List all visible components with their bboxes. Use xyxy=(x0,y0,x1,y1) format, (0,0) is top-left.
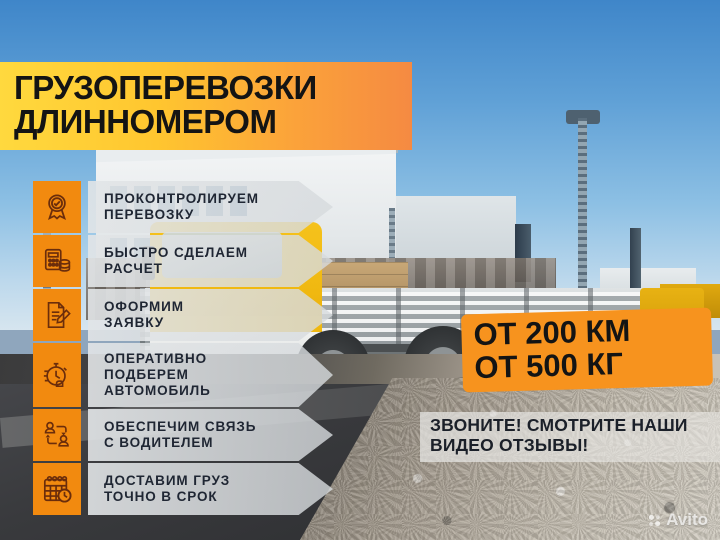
feature-item-fast-quote: БЫСТРО СДЕЛАЕМ РАСЧЕТ xyxy=(33,235,333,287)
price-unit: КГ xyxy=(586,346,623,382)
calendar-clock-icon xyxy=(33,463,81,515)
feature-item-control-shipment: ПРОКОНТРОЛИРУЕМ ПЕРЕВОЗКУ xyxy=(33,181,333,233)
award-rosette-icon xyxy=(33,181,81,233)
feature-text-panel: ДОСТАВИМ ГРУЗ ТОЧНО В СРОК xyxy=(88,463,333,515)
avito-logo-icon xyxy=(647,513,662,528)
price-value: 500 xyxy=(526,348,579,384)
price-prefix: ОТ xyxy=(474,349,518,385)
feature-line: ОПЕРАТИВНО xyxy=(104,351,207,366)
avito-watermark: Avito xyxy=(647,510,708,530)
feature-line: ДОСТАВИМ ГРУЗ xyxy=(104,473,230,488)
feature-text-panel: ОПЕРАТИВНО ПОДБЕРЕМ АВТОМОБИЛЬ xyxy=(88,343,333,407)
stopwatch-hand-icon xyxy=(33,343,81,407)
cta-line-2: ВИДЕО ОТЗЫВЫ! xyxy=(430,436,714,456)
price-row-weight: ОТ 500 КГ xyxy=(474,345,703,385)
feature-line: ОФОРМИМ xyxy=(104,299,184,314)
feature-text-panel: ОФОРМИМ ЗАЯВКУ xyxy=(88,289,333,341)
headline-line-2: ДЛИННОМЕРОМ xyxy=(14,105,402,139)
feature-line: ЗАЯВКУ xyxy=(104,315,164,330)
feature-item-process-order: ОФОРМИМ ЗАЯВКУ xyxy=(33,289,333,341)
feature-line: С ВОДИТЕЛЕМ xyxy=(104,435,213,450)
cta-line-1: ЗВОНИТЕ! СМОТРИТЕ НАШИ xyxy=(430,416,714,436)
feature-list: ПРОКОНТРОЛИРУЕМ ПЕРЕВОЗКУ xyxy=(33,181,333,517)
feature-line: ПЕРЕВОЗКУ xyxy=(104,207,194,222)
feature-line: РАСЧЕТ xyxy=(104,261,163,276)
people-exchange-icon xyxy=(33,409,81,461)
feature-line: ТОЧНО В СРОК xyxy=(104,489,218,504)
headline-banner: ГРУЗОПЕРЕВОЗКИ ДЛИННОМЕРОМ xyxy=(0,62,412,150)
feature-text-panel: ПРОКОНТРОЛИРУЕМ ПЕРЕВОЗКУ xyxy=(88,181,333,233)
feature-line: АВТОМОБИЛЬ xyxy=(104,383,211,398)
call-to-action: ЗВОНИТЕ! СМОТРИТЕ НАШИ ВИДЕО ОТЗЫВЫ! xyxy=(420,412,720,462)
feature-line: ПРОКОНТРОЛИРУЕМ xyxy=(104,191,259,206)
avito-label: Avito xyxy=(666,510,708,530)
headline-line-1: ГРУЗОПЕРЕВОЗКИ xyxy=(14,71,402,105)
feature-text-panel: БЫСТРО СДЕЛАЕМ РАСЧЕТ xyxy=(88,235,333,287)
feature-line: БЫСТРО СДЕЛАЕМ xyxy=(104,245,248,260)
calculator-coins-icon xyxy=(33,235,81,287)
feature-text-panel: ОБЕСПЕЧИМ СВЯЗЬ С ВОДИТЕЛЕМ xyxy=(88,409,333,461)
communication-tower xyxy=(578,118,587,308)
feature-item-on-time-delivery: ДОСТАВИМ ГРУЗ ТОЧНО В СРОК xyxy=(33,463,333,515)
feature-item-select-vehicle: ОПЕРАТИВНО ПОДБЕРЕМ АВТОМОБИЛЬ xyxy=(33,343,333,407)
advertisement-image: ГРУЗОПЕРЕВОЗКИ ДЛИННОМЕРОМ ПРОКОНТРОЛИРУ… xyxy=(0,0,720,540)
price-value: 200 xyxy=(525,314,578,350)
document-pen-icon xyxy=(33,289,81,341)
feature-line: ПОДБЕРЕМ xyxy=(104,367,189,382)
feature-item-driver-contact: ОБЕСПЕЧИМ СВЯЗЬ С ВОДИТЕЛЕМ xyxy=(33,409,333,461)
price-badge: ОТ 200 КМ ОТ 500 КГ xyxy=(461,308,713,393)
feature-line: ОБЕСПЕЧИМ СВЯЗЬ xyxy=(104,419,256,434)
price-unit: КМ xyxy=(585,313,631,349)
price-prefix: ОТ xyxy=(473,316,517,352)
